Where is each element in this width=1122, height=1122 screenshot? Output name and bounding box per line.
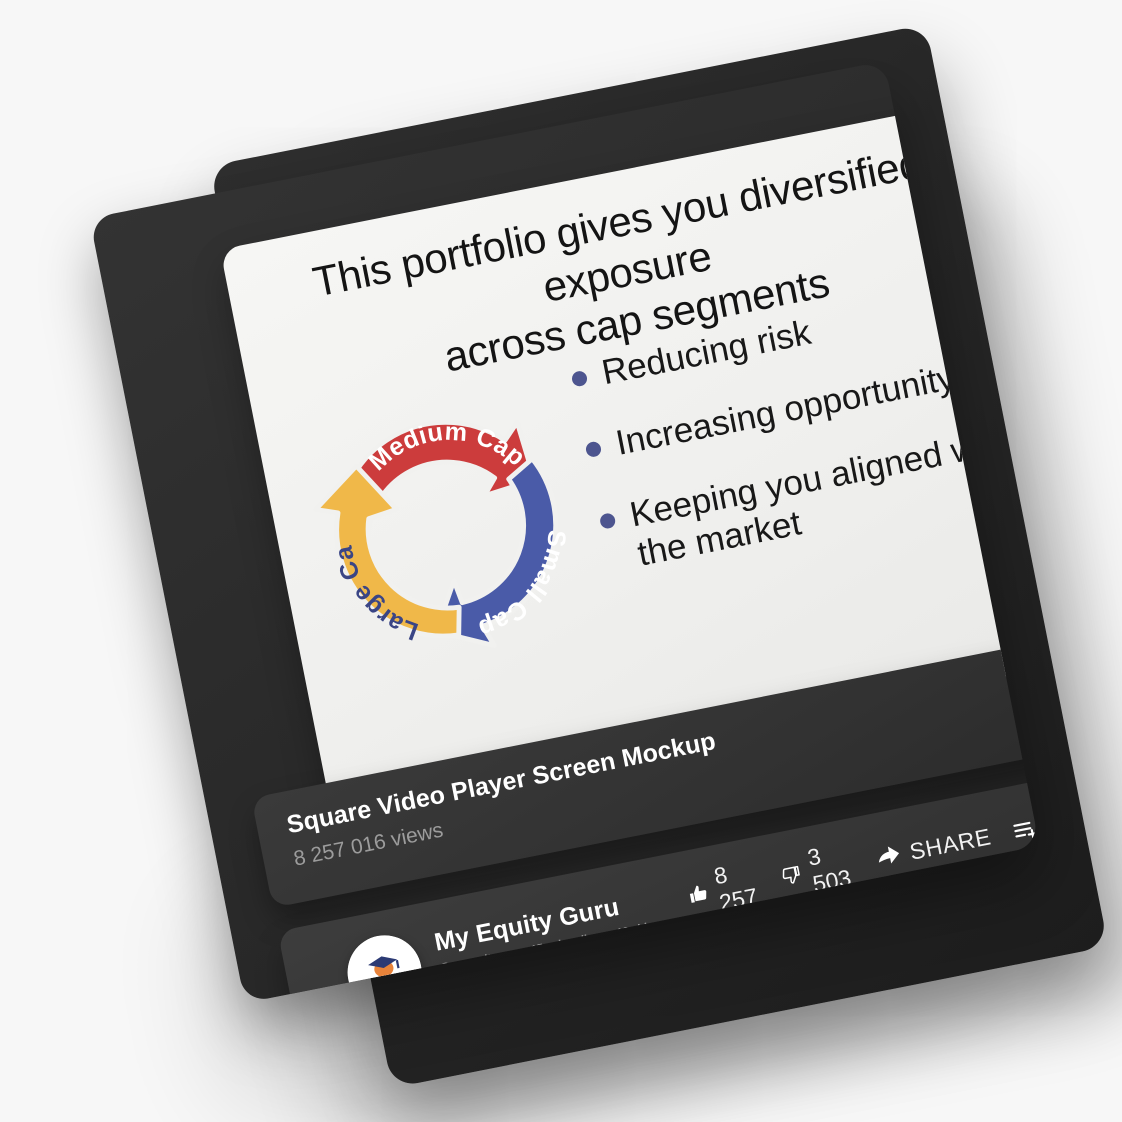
video-player-card: This portfolio gives you diversified exp… — [90, 61, 1040, 1003]
mockup-stage: This portfolio gives you diversified exp… — [0, 0, 1122, 1122]
bullet-dot-icon — [571, 370, 589, 388]
cap-segment-donut-chart: Medium Cap Small Cap — [274, 354, 617, 705]
share-arrow-icon — [873, 841, 904, 872]
bullet-dot-icon — [599, 512, 617, 530]
donut-slice-large-cap: Large Cap — [263, 366, 464, 665]
thumbs-up-icon — [686, 879, 711, 908]
thumbs-down-icon — [780, 861, 805, 890]
video-player-device: This portfolio gives you diversified exp… — [0, 6, 1122, 1122]
bullet-dot-icon — [585, 441, 603, 459]
